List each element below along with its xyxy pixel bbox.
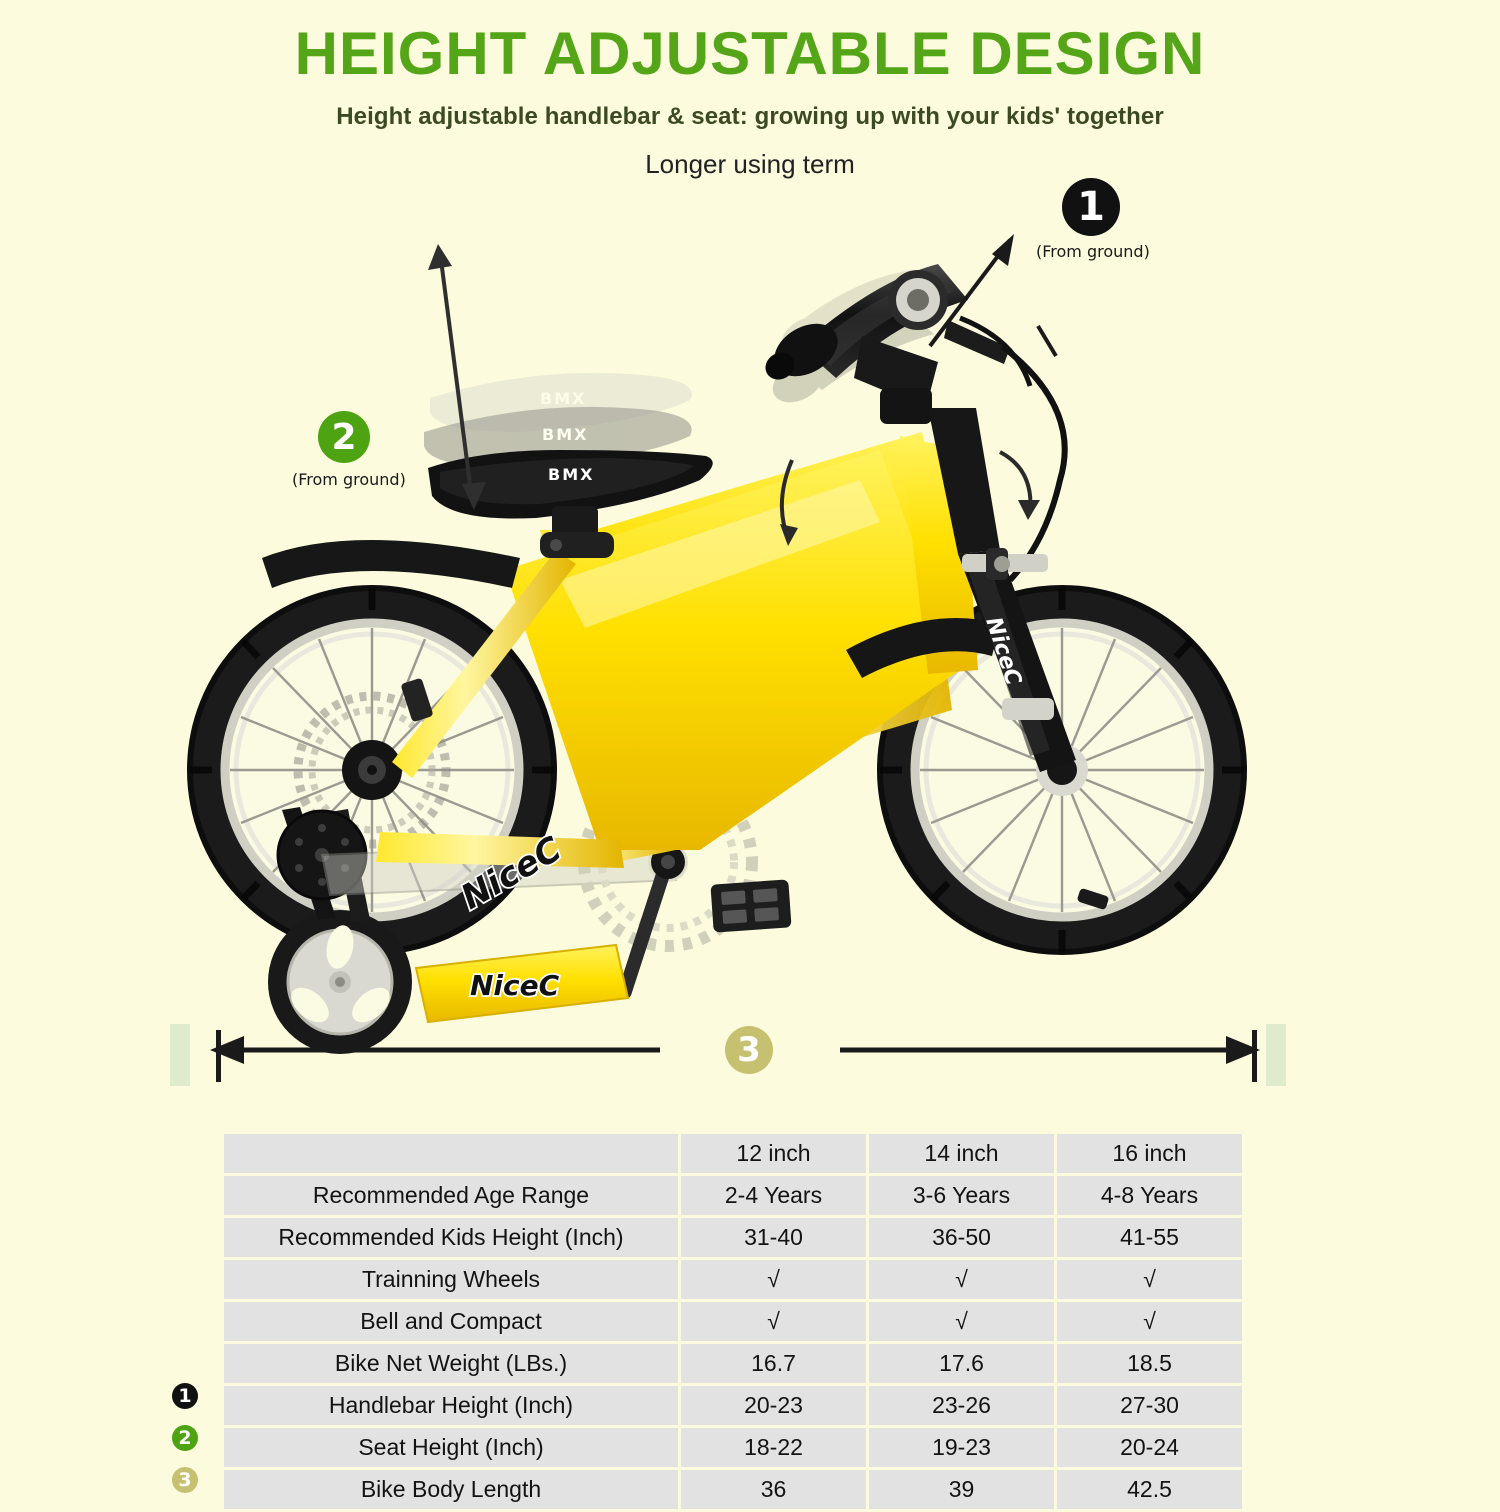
row-label: Recommended Kids Height (Inch) (224, 1218, 678, 1257)
table-row: Recommended Age Range 2-4 Years 3-6 Year… (224, 1176, 1242, 1215)
table-header-12inch: 12 inch (681, 1134, 866, 1173)
svg-text:BMX: BMX (542, 425, 588, 444)
row-value: √ (1057, 1260, 1242, 1299)
row-value: 16.7 (681, 1344, 866, 1383)
row-value: 19-23 (869, 1428, 1054, 1467)
table-row: Bike Body Length 36 39 42.5 (224, 1470, 1242, 1509)
row-value: √ (869, 1260, 1054, 1299)
callout-badge-1: 1 (1062, 178, 1120, 236)
row-value: 23-26 (869, 1386, 1054, 1425)
row-value: 27-30 (1057, 1386, 1242, 1425)
table-row: Trainning Wheels √ √ √ (224, 1260, 1242, 1299)
row-value: √ (681, 1302, 866, 1341)
row-value: 18.5 (1057, 1344, 1242, 1383)
row-value: 42.5 (1057, 1470, 1242, 1509)
table-row: Bell and Compact √ √ √ (224, 1302, 1242, 1341)
row-badge-handlebar-height: 1 (172, 1383, 198, 1409)
row-badge-seat-height: 2 (172, 1425, 198, 1451)
svg-text:BMX: BMX (540, 389, 586, 408)
row-value: 20-23 (681, 1386, 866, 1425)
table-row: Handlebar Height (Inch) 20-23 23-26 27-3… (224, 1386, 1242, 1425)
svg-text:BMX: BMX (548, 465, 594, 484)
row-value: √ (869, 1302, 1054, 1341)
row-value: 41-55 (1057, 1218, 1242, 1257)
product-illustration: NiceC NiceC BMX BMX (0, 150, 1500, 1110)
row-label: Bell and Compact (224, 1302, 678, 1341)
bell (888, 270, 948, 330)
callout-caption-1: (From ground) (1036, 242, 1150, 261)
callout-badge-2: 2 (318, 411, 370, 463)
page-title: HEIGHT ADJUSTABLE DESIGN (0, 22, 1500, 85)
table-header-blank (224, 1134, 678, 1173)
dimension-end-cap-left (170, 1024, 190, 1086)
row-value: 36 (681, 1470, 866, 1509)
row-value: 17.6 (869, 1344, 1054, 1383)
row-label: Trainning Wheels (224, 1260, 678, 1299)
row-label: Bike Net Weight (LBs.) (224, 1344, 678, 1383)
row-label: Seat Height (Inch) (224, 1428, 678, 1467)
table-row: Seat Height (Inch) 18-22 19-23 20-24 (224, 1428, 1242, 1467)
row-label: Handlebar Height (Inch) (224, 1386, 678, 1425)
row-value: √ (681, 1260, 866, 1299)
row-badge-body-length: 3 (172, 1467, 198, 1493)
row-value: 36-50 (869, 1218, 1054, 1257)
row-value: 18-22 (681, 1428, 866, 1467)
callout-caption-2: (From ground) (292, 470, 406, 489)
callout-badge-3: 3 (725, 1026, 773, 1074)
table-header-14inch: 14 inch (869, 1134, 1054, 1173)
pedal (710, 879, 791, 932)
page-subtitle: Height adjustable handlebar & seat: grow… (0, 103, 1500, 131)
row-label: Recommended Age Range (224, 1176, 678, 1215)
rotation-arrow-right (1000, 452, 1040, 520)
rear-fender (262, 540, 520, 588)
table-header-16inch: 16 inch (1057, 1134, 1242, 1173)
dimension-tick-right (1252, 1030, 1257, 1082)
row-value: 31-40 (681, 1218, 866, 1257)
table-row: Bike Net Weight (LBs.) 16.7 17.6 18.5 (224, 1344, 1242, 1383)
row-label: Bike Body Length (224, 1470, 678, 1509)
dimension-tick-left (216, 1030, 221, 1082)
spec-table: 12 inch 14 inch 16 inch Recommended Age … (224, 1134, 1242, 1512)
dimension-end-cap-right (1266, 1024, 1286, 1086)
row-value: 39 (869, 1470, 1054, 1509)
table-header-row: 12 inch 14 inch 16 inch (224, 1134, 1242, 1173)
table-row: Recommended Kids Height (Inch) 31-40 36-… (224, 1218, 1242, 1257)
row-value: 3-6 Years (869, 1176, 1054, 1215)
row-value: 4-8 Years (1057, 1176, 1242, 1215)
bicycle-illustration: NiceC NiceC BMX BMX (0, 150, 1500, 1110)
row-value: 2-4 Years (681, 1176, 866, 1215)
row-value: √ (1057, 1302, 1242, 1341)
svg-text:NiceC: NiceC (470, 969, 560, 1002)
row-value: 20-24 (1057, 1428, 1242, 1467)
